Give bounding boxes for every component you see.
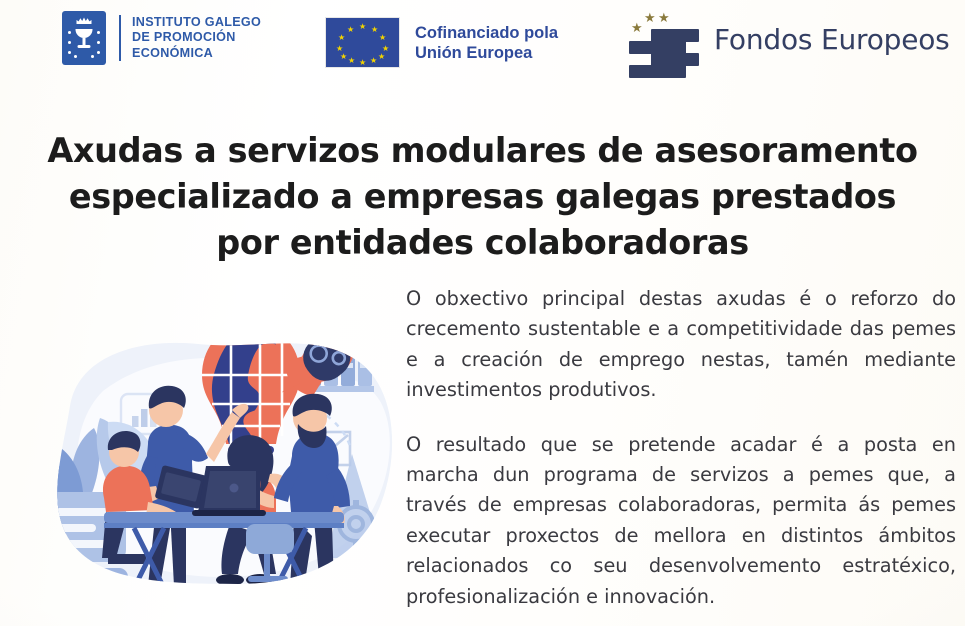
- page-title: Axudas a servizos modulares de asesorame…: [34, 128, 931, 266]
- team-collaboration-illustration: [8, 296, 403, 618]
- eu-line-1: Cofinanciado pola: [415, 23, 558, 43]
- paragraph-2: O resultado que se pretende acadar é a p…: [406, 430, 956, 612]
- igape-line-3: ECONÓMICA: [132, 46, 261, 61]
- eu-flag-icon: [325, 17, 400, 68]
- igape-logo: INSTITUTO GALEGO DE PROMOCIÓN ECONÓMICA: [62, 11, 261, 65]
- igape-line-2: DE PROMOCIÓN: [132, 30, 261, 45]
- stepped-bars-icon: ★ ★ ★: [620, 6, 702, 72]
- logo-bar: INSTITUTO GALEGO DE PROMOCIÓN ECONÓMICA …: [0, 0, 965, 86]
- eu-line-2: Unión Europea: [415, 43, 558, 63]
- body-text-column: O obxectivo principal destas axudas é o …: [406, 284, 956, 612]
- igape-line-1: INSTITUTO GALEGO: [132, 15, 261, 30]
- fondos-europeos-logo: ★ ★ ★ Fondos Europeos: [620, 6, 950, 72]
- paragraph-1: O obxectivo principal destas axudas é o …: [406, 284, 956, 406]
- galicia-coat-of-arms-icon: [62, 11, 106, 65]
- eu-logo-text: Cofinanciado pola Unión Europea: [415, 23, 558, 63]
- igape-logo-text: INSTITUTO GALEGO DE PROMOCIÓN ECONÓMICA: [132, 15, 261, 61]
- european-union-logo: Cofinanciado pola Unión Europea: [325, 17, 558, 68]
- logo-divider: [119, 15, 121, 61]
- fondos-europeos-text: Fondos Europeos: [714, 23, 950, 56]
